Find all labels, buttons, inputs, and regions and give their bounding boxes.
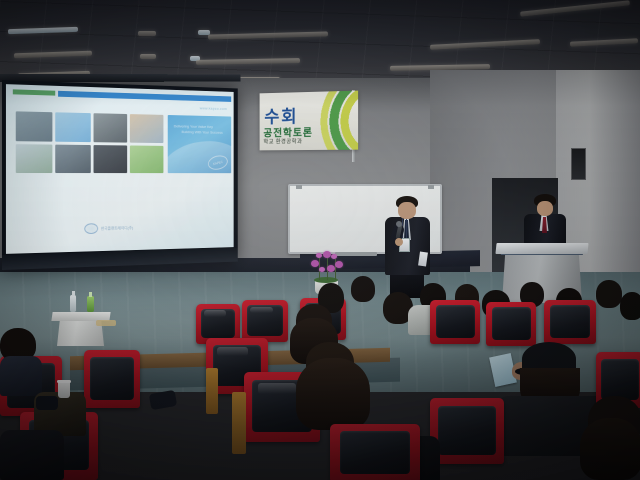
presenter-face <box>398 202 416 219</box>
wall-banner: 수회 공전학토론 학교 환경공학과 <box>260 91 359 151</box>
ceiling-lamp <box>138 31 156 36</box>
slide-url-text: www.kapco.com <box>200 106 227 111</box>
slide-tagline-panel: Delivering Your Value Key Building With … <box>168 115 231 173</box>
audience-coat <box>0 430 64 480</box>
seat[interactable] <box>84 350 140 408</box>
seat[interactable] <box>330 424 420 480</box>
ceiling-lamp <box>140 54 156 59</box>
audience-head <box>620 292 640 320</box>
company-logo-mark <box>84 223 98 234</box>
seat-highlight <box>204 310 226 316</box>
seat-highlight <box>258 383 296 394</box>
panel-tagline: Delivering Your Value Key Building With … <box>174 124 227 136</box>
presenter-with-microphone <box>378 196 438 296</box>
seat[interactable] <box>430 398 504 464</box>
orchid-bloom <box>335 261 343 268</box>
seat-highlight <box>250 307 273 314</box>
snack-plate <box>96 320 116 326</box>
side-table <box>52 312 110 346</box>
tile-crowd <box>16 111 52 141</box>
water-bottle <box>70 295 76 312</box>
slide-green-bar <box>13 89 55 95</box>
podium-top-surface <box>495 243 588 254</box>
slide-blue-bar <box>58 91 231 102</box>
tile-green <box>130 145 163 173</box>
tile-fan <box>16 144 52 173</box>
projection-screen: www.kapco.com Delivering Your Value Key … <box>2 80 238 270</box>
presenter-hand <box>395 238 403 246</box>
tagline-line-2: Building With Your Success <box>182 129 228 135</box>
company-name: 한국플랜트레이디(주) <box>101 225 133 230</box>
whiteboard-clip <box>428 185 434 189</box>
seat-highlight <box>217 347 248 356</box>
banner-subtitle: 학교 환경공학과 <box>263 137 302 145</box>
seat-pad <box>340 431 410 474</box>
microphone-head-icon <box>396 221 402 227</box>
tile-hands-globe <box>130 114 163 143</box>
seat-pad <box>492 307 531 340</box>
seat-pad <box>436 305 475 338</box>
orchid-bloom <box>316 253 322 258</box>
orchid-bloom <box>311 260 319 267</box>
paper-coffee-cup <box>58 382 70 398</box>
audience-coat <box>0 356 42 396</box>
podium-presenter-face <box>537 201 553 216</box>
audience-head <box>596 280 622 308</box>
tile-keyboard <box>93 145 127 174</box>
seat-armrest <box>232 392 246 454</box>
photograph-scene: www.kapco.com Delivering Your Value Key … <box>0 0 640 480</box>
tile-machine <box>55 144 90 173</box>
audience-shoe <box>36 396 58 410</box>
seat-armrest <box>206 368 218 414</box>
orchid-bloom <box>327 265 335 272</box>
slide-company-logo: 한국플랜트레이디(주) <box>84 223 133 235</box>
seat-pad <box>90 357 134 400</box>
tile-blue-sky <box>55 112 90 141</box>
orchid-bloom <box>331 254 337 259</box>
seat[interactable] <box>486 302 536 346</box>
audience-head <box>351 276 375 302</box>
audience-long-hair <box>296 358 370 430</box>
seat[interactable] <box>430 300 480 344</box>
seat-pad <box>601 359 638 400</box>
tile-drill <box>93 113 127 142</box>
audience-shoe <box>149 390 177 410</box>
orchid-bloom <box>319 267 325 272</box>
presentation-slide: www.kapco.com Delivering Your Value Key … <box>6 84 234 254</box>
slide-image-tile-grid <box>16 111 164 173</box>
seat-pad <box>438 406 496 455</box>
seat[interactable] <box>242 300 288 342</box>
whiteboard-clip <box>296 185 302 189</box>
banner-chevron-graphic <box>298 91 358 151</box>
seat-pad <box>550 305 591 338</box>
orchid-bloom <box>323 251 331 258</box>
seat[interactable] <box>544 300 596 344</box>
wall-speaker <box>571 148 586 180</box>
green-drink-bottle <box>87 296 94 312</box>
audience-long-hair <box>580 418 640 480</box>
